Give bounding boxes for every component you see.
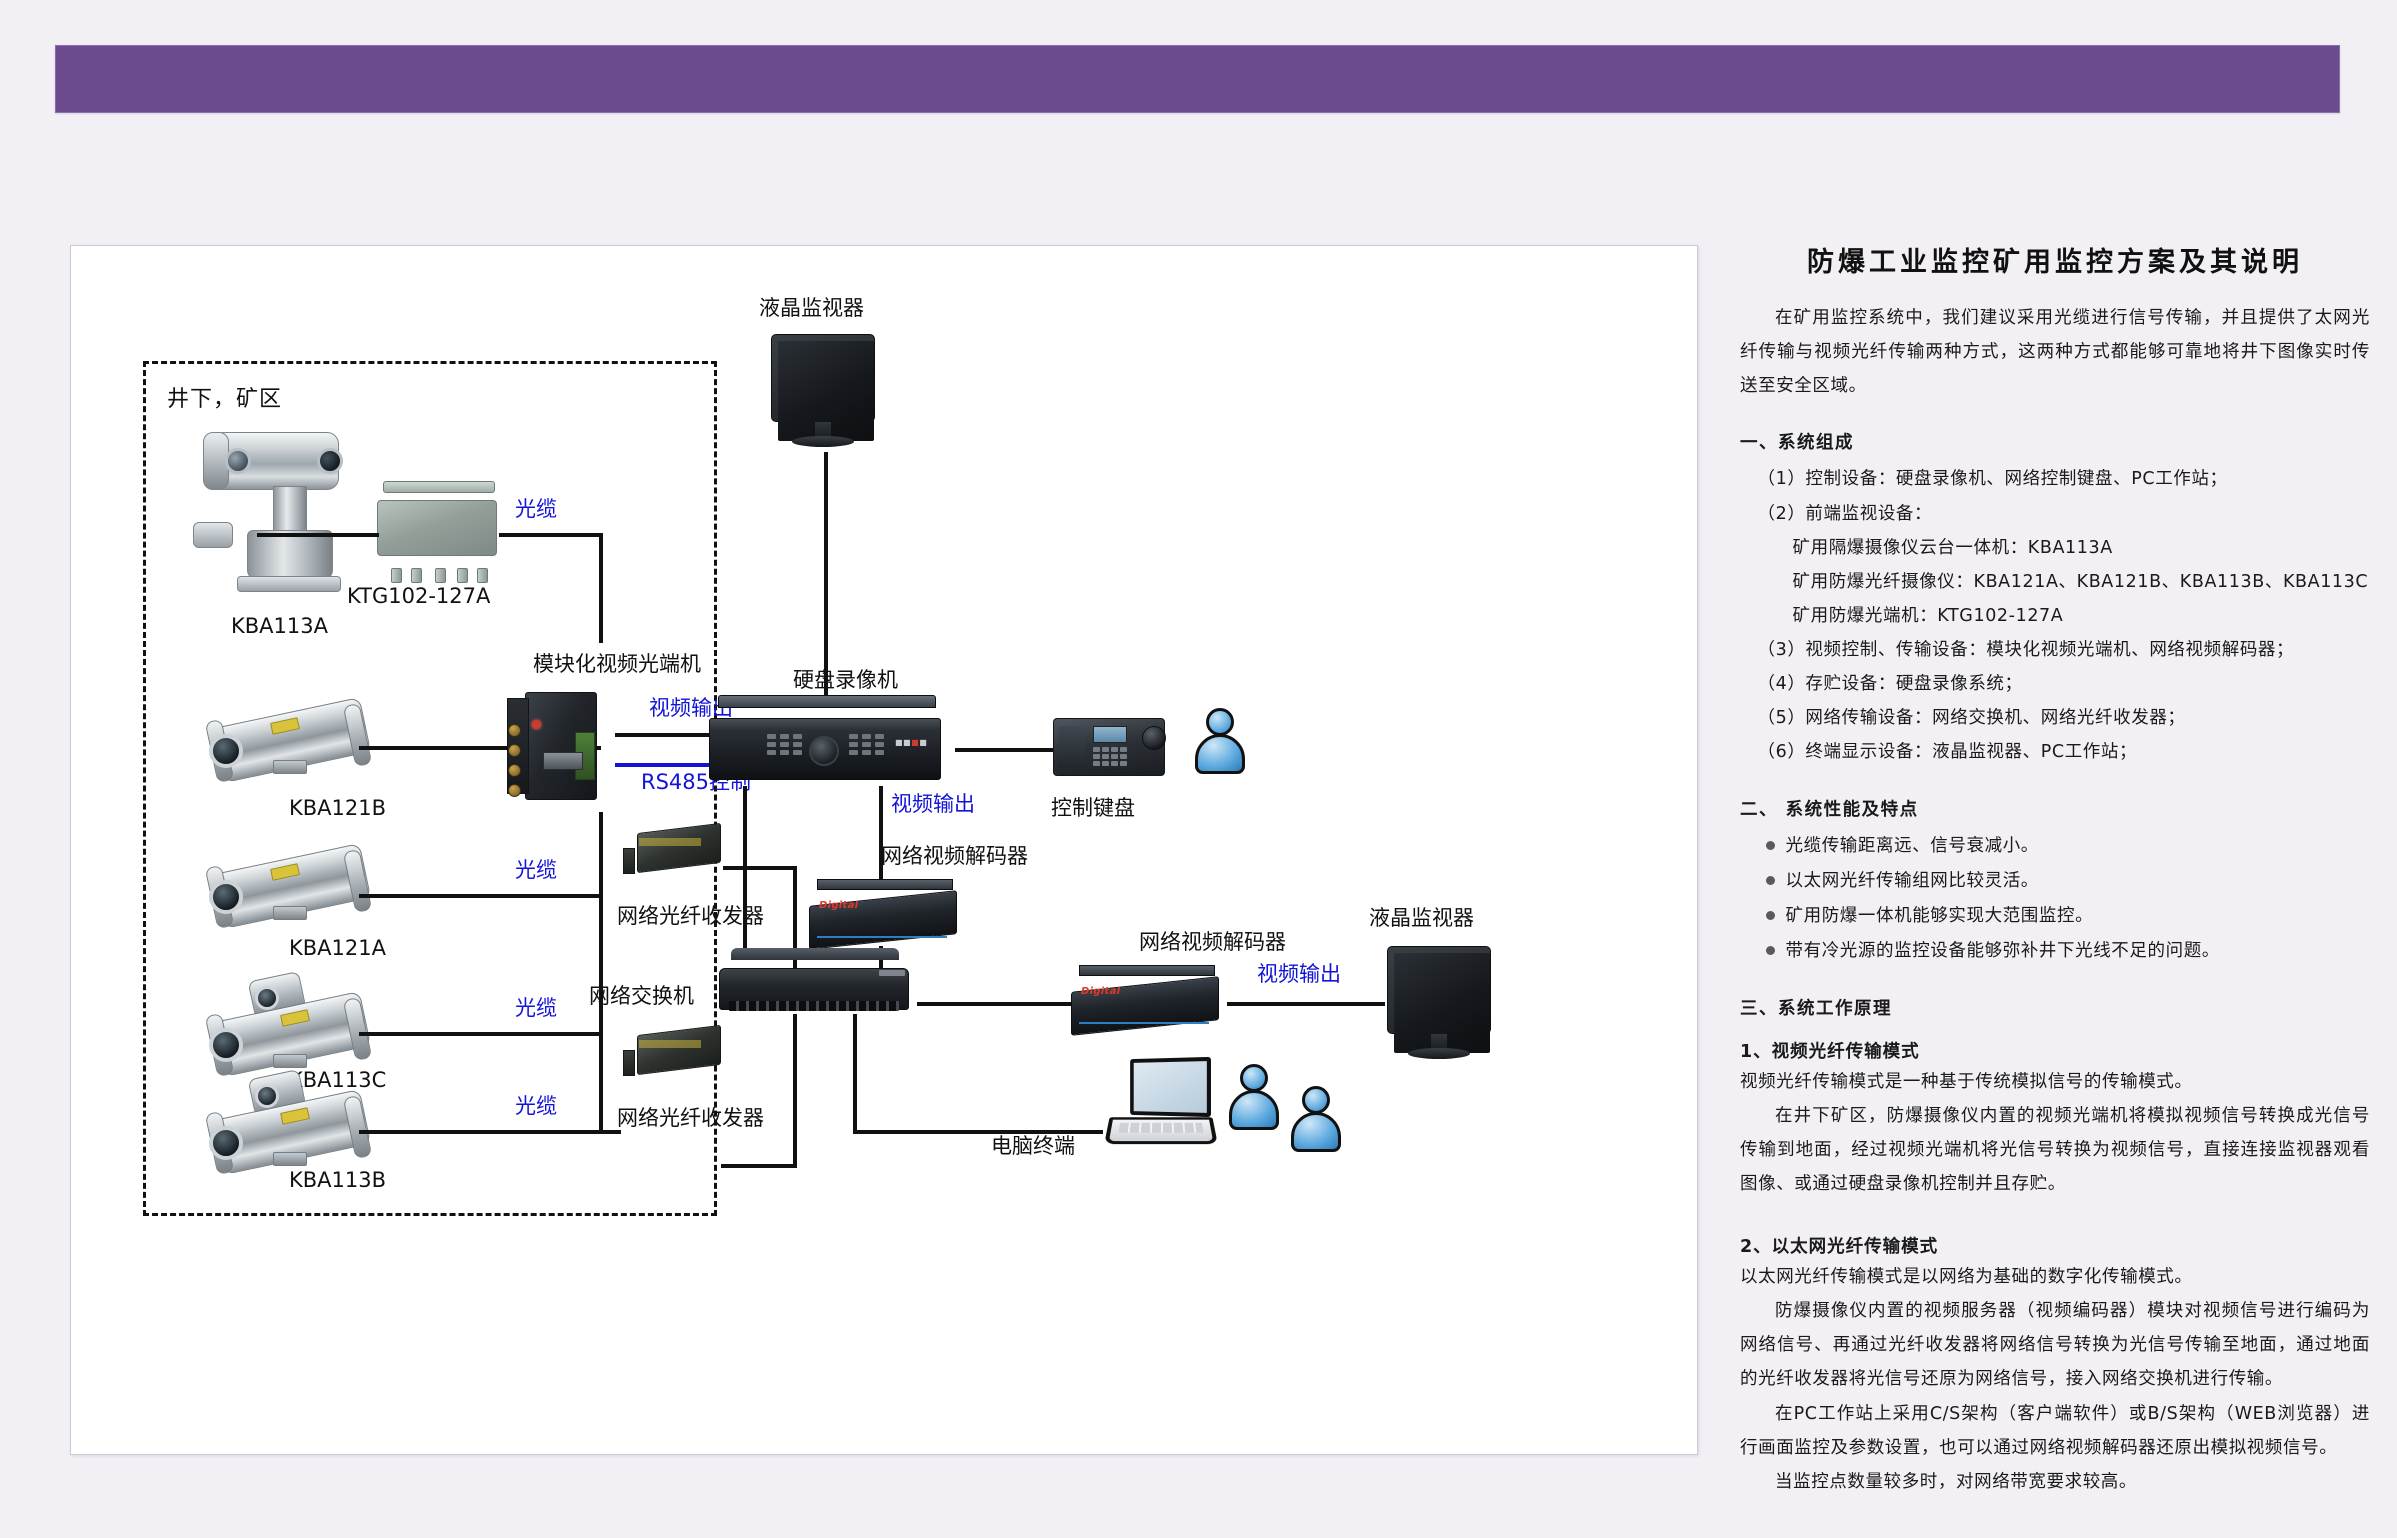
decoder-lower-label: 网络视频解码器 [1139,932,1286,953]
cable-label-4: 光缆 [515,998,557,1019]
page-root: 井下，矿区 KBA113A KTG102-127A 光缆 [0,0,2397,1538]
section-3-mode2-p3: 在PC工作站上采用C/S架构（客户端软件）或B/S架构（WEB浏览器）进行画面监… [1740,1397,2370,1465]
section-1-item-2: （2）前端监视设备： [1740,497,2370,531]
document-text-column: 防爆工业监控矿用监控方案及其说明 在矿用监控系统中，我们建议采用光缆进行信号传输… [1740,240,2370,1499]
link-label-video-out-3: 视频输出 [1257,964,1341,985]
line-monitor-top-to-dvr [824,452,828,704]
ptz-camera-kba113a-label: KBA113A [231,616,328,637]
line-decoder-lower-to-monitor [1227,1002,1385,1006]
line-trunk-vertical-top [599,533,603,643]
pc-terminal-label: 电脑终端 [991,1136,1075,1157]
line-switch-to-decoder-lower [917,1002,1077,1006]
control-keyboard-label: 控制键盘 [1051,798,1135,819]
camera-kba121a-label: KBA121A [289,938,386,959]
camera-kba113b-label: KBA113B [289,1170,386,1191]
section-2-bullet-4: 带有冷光源的监控设备能够弥补井下光线不足的问题。 [1740,934,2370,969]
line-kba113c-to-trunk [359,1032,601,1036]
section-3-mode2-p1: 以太网光纤传输模式是以网络为基础的数字化传输模式。 [1740,1260,2370,1294]
lcd-monitor-top-label: 液晶监视器 [759,298,864,319]
operator-avatar-3 [1227,1064,1281,1130]
section-3-mode1-title: 1、视频光纤传输模式 [1740,1038,2370,1063]
camera-kba121a-graphic [199,844,399,934]
intro-paragraph: 在矿用监控系统中，我们建议采用光缆进行信号传输，并且提供了太网光纤传输与视频光纤… [1740,301,2370,403]
network-diagram-panel: 井下，矿区 KBA113A KTG102-127A 光缆 [70,245,1698,1455]
section-1-item-3: （3）视频控制、传输设备：模块化视频光端机、网络视频解码器； [1740,633,2370,667]
operator-avatar-2 [1289,1086,1343,1152]
camera-kba113c-graphic [199,976,399,1076]
lcd-monitor-top-graphic [771,334,881,454]
link-label-video-out-2: 视频输出 [891,794,975,815]
operator-avatar-1 [1193,708,1247,774]
section-1-item-1: （1）控制设备：硬盘录像机、网络控制键盘、PC工作站； [1740,462,2370,496]
line-dvr-down-to-switch [743,786,747,960]
modular-optical-transceiver-label: 模块化视频光端机 [533,654,701,675]
fiber-converter-bottom-graphic [631,1026,731,1078]
line-kba121a-to-trunk [359,894,601,898]
section-3-mode1-p2: 在井下矿区，防爆摄像仪内置的视频光端机将模拟视频信号转换成光信号传输到地面，经过… [1740,1099,2370,1201]
section-1-heading: 一、系统组成 [1740,429,2370,454]
control-keyboard-graphic [1053,718,1173,780]
camera-kba113b-graphic [199,1074,399,1174]
line-transceiver-down [599,812,603,1132]
decoder-lower-graphic: Digital [1071,974,1231,1036]
cable-label-5: 光缆 [515,1096,557,1117]
network-switch-label: 网络交换机 [589,986,694,1007]
cable-label-3: 光缆 [515,860,557,881]
section-2-bullet-1: 光缆传输距离远、信号衰减小。 [1740,829,2370,864]
fiber-converter-mid-graphic [631,824,731,876]
fiber-converter-mid-label: 网络光纤收发器 [617,906,764,927]
section-3-mode2-title: 2、以太网光纤传输模式 [1740,1233,2370,1258]
decoder-upper-graphic: Digital [809,888,969,950]
network-switch-graphic [719,958,919,1016]
junction-box-ktg102-label: KTG102-127A [347,586,490,607]
lcd-monitor-right-graphic [1387,946,1497,1066]
line-junctionbox-to-trunk [499,533,601,537]
fiber-converter-bottom-label: 网络光纤收发器 [617,1108,764,1129]
underground-mine-zone-label: 井下，矿区 [167,381,282,413]
modular-optical-transceiver-graphic [501,686,611,816]
header-band [55,45,2340,113]
section-2-bullet-3: 矿用防爆一体机能够实现大范围监控。 [1740,899,2370,934]
document-title: 防爆工业监控矿用监控方案及其说明 [1740,240,2370,279]
section-1-item-6: （6）终端显示设备：液晶监视器、PC工作站； [1740,735,2370,769]
decoder-upper-label: 网络视频解码器 [881,846,1028,867]
line-dvr-to-keyboard [955,748,1053,752]
dvr-label: 硬盘录像机 [793,670,898,691]
section-1-subitem-1: 矿用隔爆摄像仪云台一体机：KBA113A [1740,531,2370,565]
camera-kba121b-label: KBA121B [289,798,386,819]
section-1-subitem-2: 矿用防爆光纤摄像仪：KBA121A、KBA121B、KBA113B、KBA113… [1740,565,2370,599]
lcd-monitor-right-label: 液晶监视器 [1369,908,1474,929]
paragraph-spacer [1740,1201,2370,1215]
section-3-heading: 三、系统工作原理 [1740,995,2370,1020]
line-ptz-to-junctionbox [257,533,379,537]
section-2-bullet-2: 以太网光纤传输组网比较灵活。 [1740,864,2370,899]
line-switch-down-right [853,1014,857,1134]
section-3-mode2-p2: 防爆摄像仪内置的视频服务器（视频编码器）模块对视频信号进行编码为网络信号、再通过… [1740,1294,2370,1396]
junction-box-ktg102-graphic [377,490,507,570]
section-3-mode2-p4: 当监控点数量较多时，对网络带宽要求较高。 [1740,1465,2370,1499]
line-kba113b-to-converter-bottom [359,1130,621,1134]
pc-terminal-graphic [1101,1058,1231,1168]
section-1-subitem-3: 矿用防爆光端机：KTG102-127A [1740,599,2370,633]
camera-kba121b-graphic [199,698,399,788]
line-dvr-down-to-decoder [879,786,883,890]
line-converter-mid-right [723,866,797,870]
line-switch-down-left [793,1014,797,1168]
line-converter-bottom-to-riser [721,1164,797,1168]
section-3-mode1-p1: 视频光纤传输模式是一种基于传统模拟信号的传输模式。 [1740,1065,2370,1099]
section-1-item-4: （4）存贮设备：硬盘录像系统； [1740,667,2370,701]
section-2-bullet-list: 光缆传输距离远、信号衰减小。 以太网光纤传输组网比较灵活。 矿用防爆一体机能够实… [1740,829,2370,969]
cable-label-1: 光缆 [515,499,557,520]
section-2-heading: 二、 系统性能及特点 [1740,796,2370,821]
section-1-item-5: （5）网络传输设备：网络交换机、网络光纤收发器； [1740,701,2370,735]
ptz-camera-kba113a-graphic [189,418,399,598]
dvr-graphic: ■■■■ [709,706,955,786]
